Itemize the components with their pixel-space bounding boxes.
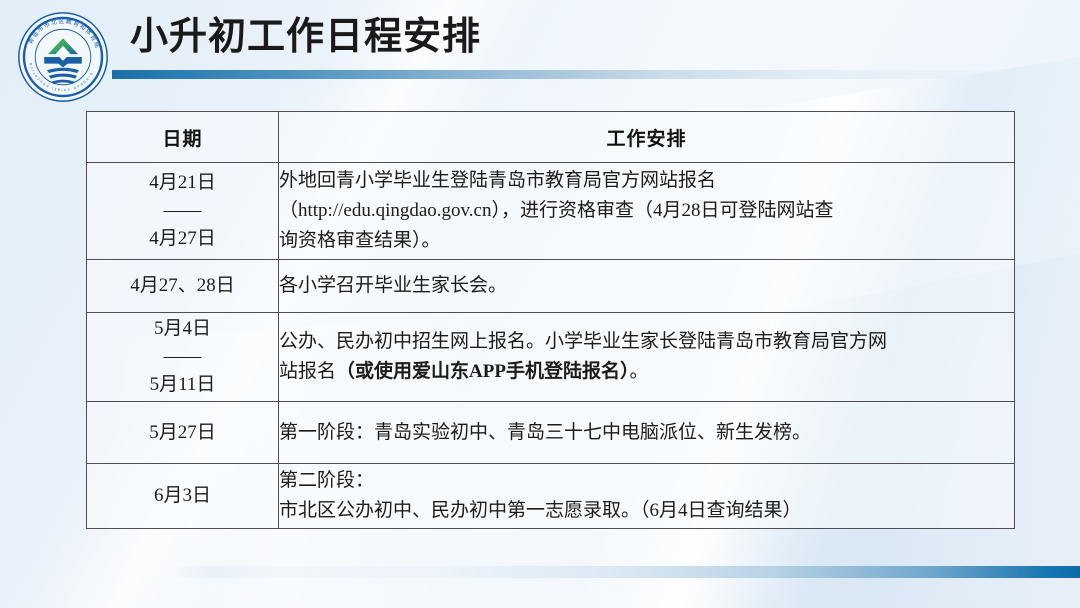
task-text: 站报名 bbox=[279, 361, 336, 382]
school-emblem-logo: 青岛市市北区教育和体育局 QINGDAO SHIBEI EDUCATION BU… bbox=[16, 10, 110, 104]
cell-task: 各小学召开毕业生家长会。 bbox=[279, 260, 1015, 313]
task-line: 第二阶段： bbox=[279, 466, 1014, 496]
slide-header: 青岛市市北区教育和体育局 QINGDAO SHIBEI EDUCATION BU… bbox=[0, 0, 1080, 104]
task-line: 公办、民办初中招生网上报名。小学毕业生家长登陆青岛市教育局官方网 bbox=[279, 327, 1014, 357]
cell-task: 公办、民办初中招生网上报名。小学毕业生家长登陆青岛市教育局官方网 站报名（或使用… bbox=[279, 313, 1015, 402]
column-header-task: 工作安排 bbox=[279, 112, 1015, 163]
presentation-slide: 青岛市市北区教育和体育局 QINGDAO SHIBEI EDUCATION BU… bbox=[0, 0, 1080, 608]
cell-task: 外地回青小学毕业生登陆青岛市教育局官方网站报名 （http://edu.qing… bbox=[279, 163, 1015, 260]
schedule-table: 日期 工作安排 4月21日 —— 4月27日 外地回青小学毕业生登陆青岛市教育局… bbox=[86, 111, 1015, 529]
cell-task: 第二阶段： 市北区公办初中、民办初中第一志愿录取。（6月4日查询结果） bbox=[279, 464, 1015, 529]
page-title: 小升初工作日程安排 bbox=[130, 13, 481, 61]
table-row: 4月21日 —— 4月27日 外地回青小学毕业生登陆青岛市教育局官方网站报名 （… bbox=[87, 163, 1015, 260]
task-line: （http://edu.qingdao.gov.cn），进行资格审查（4月28日… bbox=[279, 196, 1014, 226]
table-row: 5月27日 第一阶段：青岛实验初中、青岛三十七中电脑派位、新生发榜。 bbox=[87, 402, 1015, 464]
task-line: 市北区公办初中、民办初中第一志愿录取。（6月4日查询结果） bbox=[279, 496, 1014, 526]
cell-date: 4月27、28日 bbox=[87, 260, 279, 313]
cell-date: 4月21日 —— 4月27日 bbox=[87, 163, 279, 260]
footer-decorative-rule bbox=[172, 566, 1080, 578]
task-text-emphasis: （或使用爱山东APP手机登陆报名） bbox=[336, 361, 629, 382]
task-line: 站报名（或使用爱山东APP手机登陆报名）。 bbox=[279, 357, 1014, 387]
table-row: 6月3日 第二阶段： 市北区公办初中、民办初中第一志愿录取。（6月4日查询结果） bbox=[87, 464, 1015, 529]
table-header-row: 日期 工作安排 bbox=[87, 112, 1015, 163]
cell-date: 5月27日 bbox=[87, 402, 279, 464]
task-line: 外地回青小学毕业生登陆青岛市教育局官方网站报名 bbox=[279, 166, 1014, 196]
cell-date: 6月3日 bbox=[87, 464, 279, 529]
column-header-date: 日期 bbox=[87, 112, 279, 163]
task-text: 。 bbox=[629, 361, 648, 382]
table-row: 4月27、28日 各小学召开毕业生家长会。 bbox=[87, 260, 1015, 313]
title-underline-rule bbox=[112, 70, 1062, 79]
cell-date: 5月4日 —— 5月11日 bbox=[87, 313, 279, 402]
task-line: 询资格审查结果）。 bbox=[279, 226, 1014, 256]
task-line: 第一阶段：青岛实验初中、青岛三十七中电脑派位、新生发榜。 bbox=[279, 418, 1014, 448]
schedule-table-container: 日期 工作安排 4月21日 —— 4月27日 外地回青小学毕业生登陆青岛市教育局… bbox=[86, 111, 1014, 529]
cell-task: 第一阶段：青岛实验初中、青岛三十七中电脑派位、新生发榜。 bbox=[279, 402, 1015, 464]
table-row: 5月4日 —— 5月11日 公办、民办初中招生网上报名。小学毕业生家长登陆青岛市… bbox=[87, 313, 1015, 402]
task-line: 各小学召开毕业生家长会。 bbox=[279, 271, 1014, 301]
